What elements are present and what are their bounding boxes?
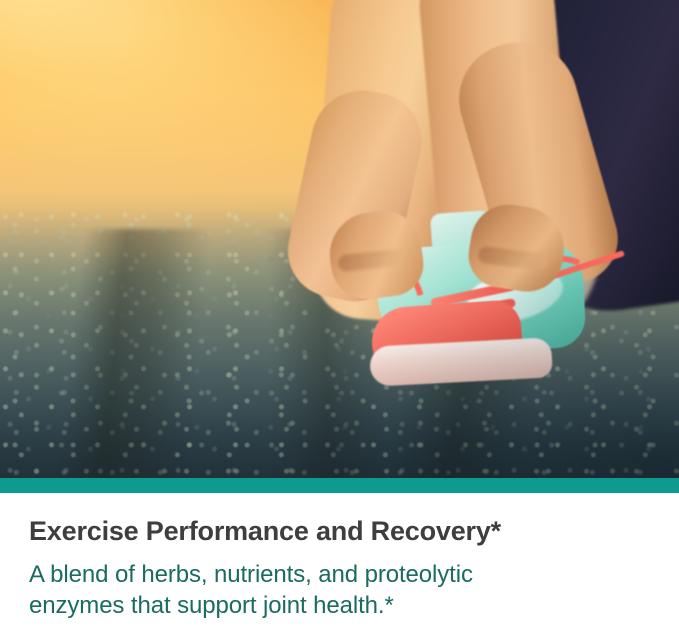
subcopy: A blend of herbs, nutrients, and proteol…	[29, 547, 629, 621]
copy-block: Exercise Performance and Recovery* A ble…	[0, 493, 679, 636]
hero-image	[0, 0, 679, 478]
subcopy-line-1: A blend of herbs, nutrients, and proteol…	[29, 560, 629, 591]
subcopy-line-2: enzymes that support joint health.*	[29, 591, 629, 622]
headline: Exercise Performance and Recovery*	[29, 493, 650, 547]
product-feature-card: Exercise Performance and Recovery* A ble…	[0, 0, 679, 636]
teal-divider-bar	[0, 478, 679, 493]
